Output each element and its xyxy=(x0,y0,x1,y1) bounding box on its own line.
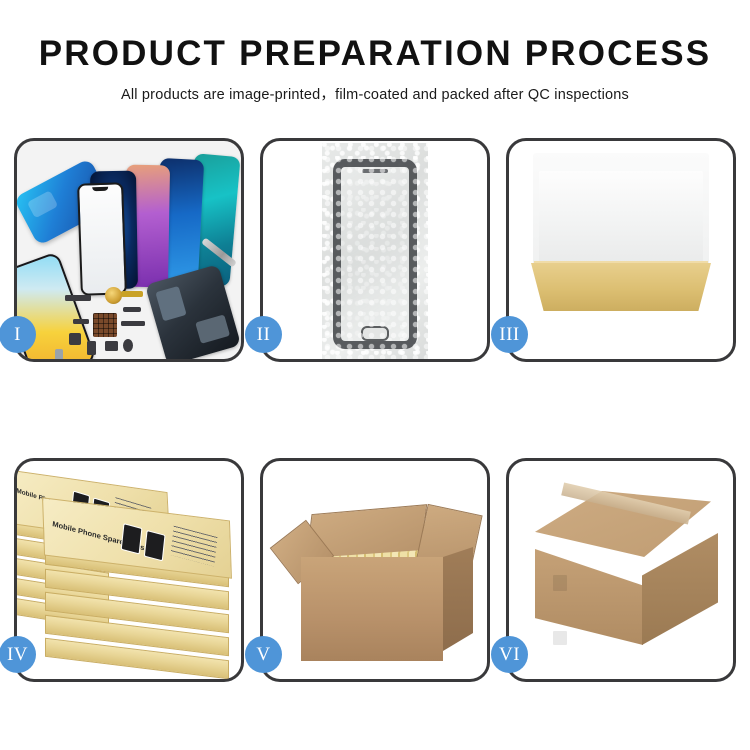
step-badge-1: I xyxy=(0,316,36,353)
process-step-4: Mobile Phone Spare Parts Mobile Phone Sp… xyxy=(14,458,244,682)
chip-array-part-icon xyxy=(93,313,117,337)
process-step-2: II Screen wrapped in protective bubble f… xyxy=(260,138,490,362)
flex-cable-icon-2 xyxy=(123,307,141,312)
bubble-film-sheet xyxy=(322,143,428,359)
box-phone-image-front-2 xyxy=(144,530,166,561)
bubble-texture-overlay xyxy=(322,143,428,359)
step-badge-6: VI xyxy=(491,636,528,673)
process-step-5: V Retail boxes packed into shipping cart… xyxy=(260,458,490,682)
connector-part-icon xyxy=(65,295,91,301)
carton-flap-seam-top xyxy=(553,575,567,591)
step-3-image xyxy=(509,141,733,359)
step-2-image xyxy=(263,141,487,359)
page-subtitle: All products are image-printed，film-coat… xyxy=(0,83,750,104)
step-badge-3: III xyxy=(491,316,528,353)
step-badge-5: V xyxy=(245,636,282,673)
box-phone-image-front-1 xyxy=(121,523,143,554)
copper-coil-part-icon xyxy=(105,287,122,304)
step-3-caption: Wrapped screen placed in foam-lined kraf… xyxy=(509,141,510,142)
white-foam-liner xyxy=(539,171,703,267)
kraft-box-tray xyxy=(531,263,711,311)
step-6-caption: Sealed and taped shipping carton xyxy=(509,461,510,462)
process-step-1: I Phone display assemblies and spare par… xyxy=(14,138,244,362)
sealed-carton-right-face xyxy=(642,533,718,645)
page-title: PRODUCT PREPARATION PROCESS xyxy=(0,36,750,73)
box-spec-lines-front xyxy=(171,526,218,567)
sim-tray-icon xyxy=(55,349,63,359)
step-4-image: Mobile Phone Spare Parts Mobile Phone Sp… xyxy=(17,461,241,679)
flex-cable-icon-1 xyxy=(121,291,143,297)
carton-front-face xyxy=(301,557,443,661)
step-6-image xyxy=(509,461,733,679)
step-2-caption: Screen wrapped in protective bubble film xyxy=(263,141,264,142)
process-step-grid: I Phone display assemblies and spare par… xyxy=(14,138,736,682)
carton-flap-seam-bottom xyxy=(553,631,567,645)
product-preparation-infographic: PRODUCT PREPARATION PROCESS All products… xyxy=(0,0,750,750)
white-phone-screen-graphic xyxy=(77,182,127,296)
step-1-image xyxy=(17,141,241,359)
process-step-3: III Wrapped screen placed in foam-lined … xyxy=(506,138,736,362)
step-badge-4: IV xyxy=(0,636,36,673)
small-part-icon-4 xyxy=(105,341,118,351)
step-5-caption: Retail boxes packed into shipping carton xyxy=(263,461,264,462)
small-part-icon-3 xyxy=(87,341,96,355)
sealed-carton-front-face xyxy=(535,549,643,645)
small-part-icon-2 xyxy=(69,333,81,345)
header: PRODUCT PREPARATION PROCESS All products… xyxy=(0,0,750,104)
flex-cable-icon-3 xyxy=(121,321,145,326)
small-part-icon-1 xyxy=(73,319,89,324)
process-step-6: VI Sealed and taped shipping carton xyxy=(506,458,736,682)
step-badge-2: II xyxy=(245,316,282,353)
small-part-icon-5 xyxy=(123,339,133,352)
carton-side-face xyxy=(443,547,473,651)
step-5-image xyxy=(263,461,487,679)
